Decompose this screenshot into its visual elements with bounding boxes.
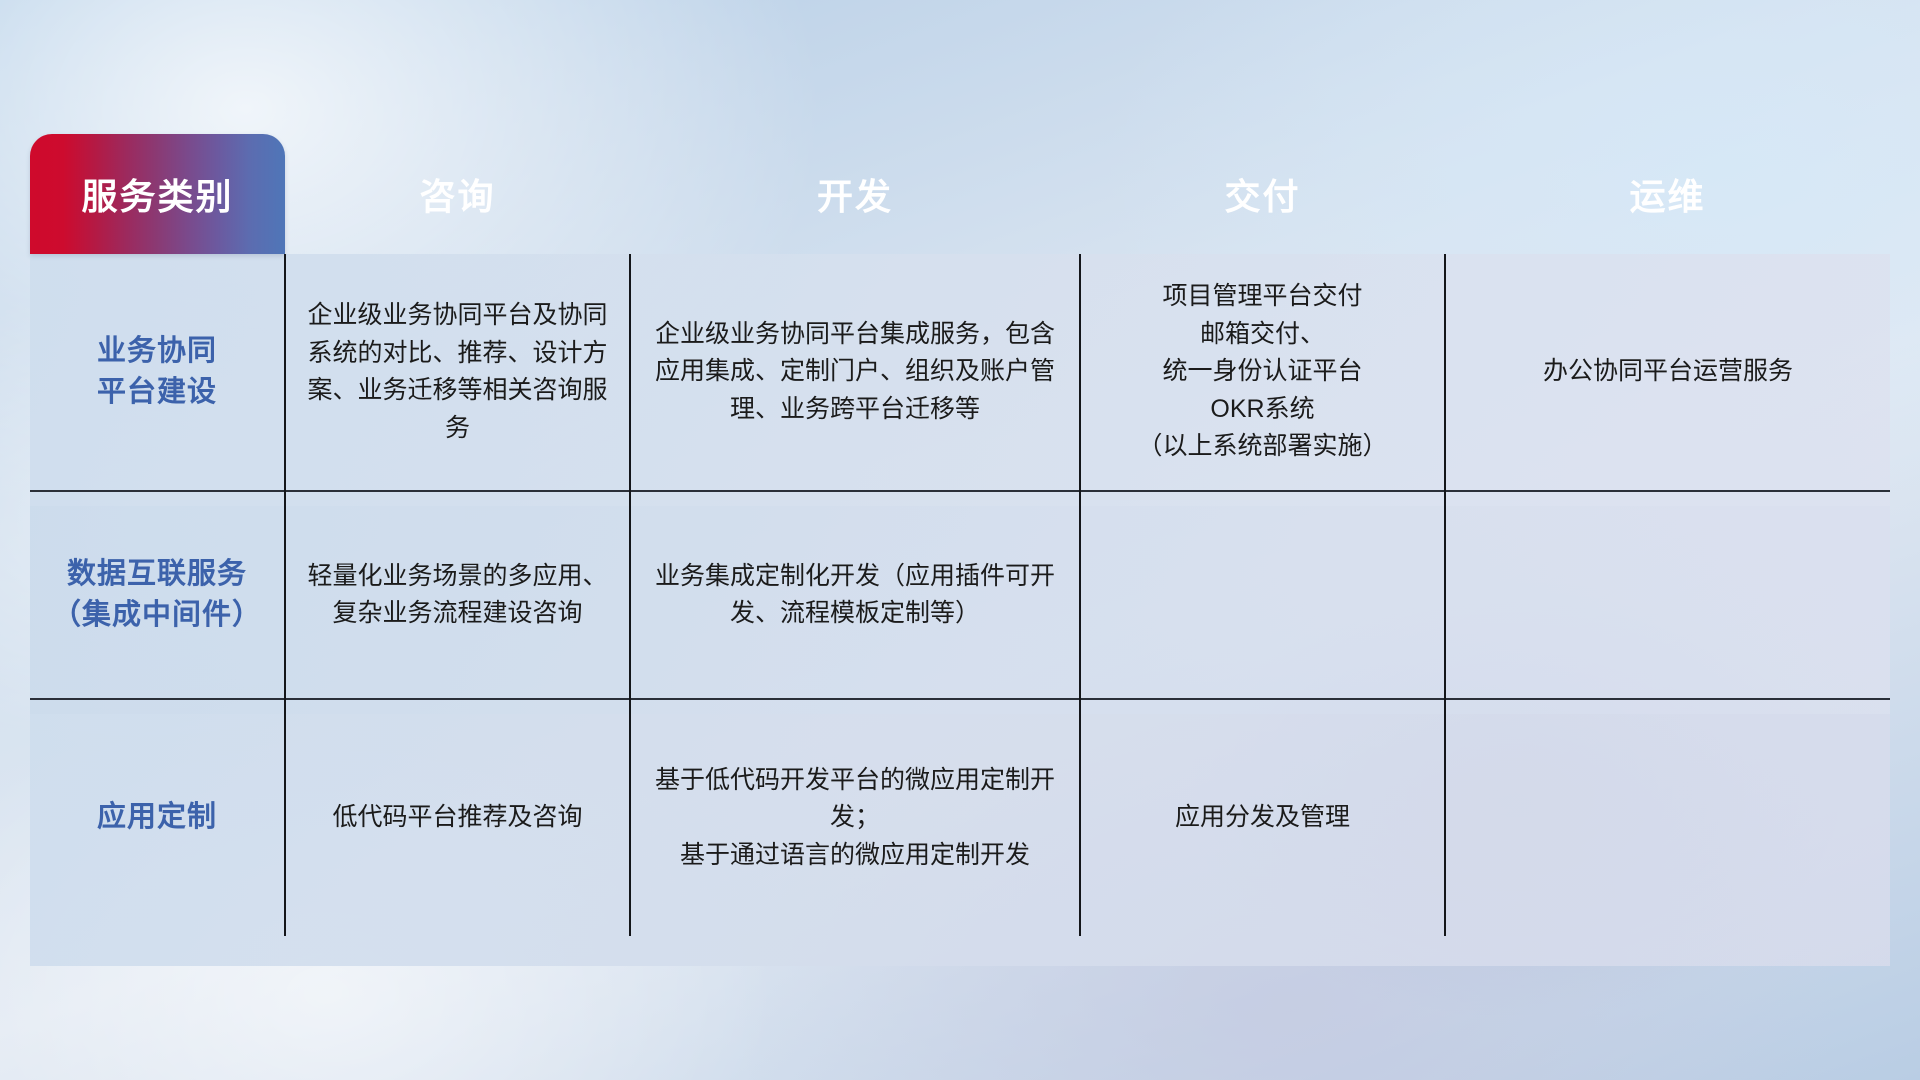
table-row: 数据互联服务 （集成中间件） 轻量化业务场景的多应用、复杂业务流程建设咨询 业务… <box>30 491 1890 699</box>
column-header-category-label: 服务类别 <box>81 176 233 217</box>
cell-consulting-row1: 企业级业务协同平台及协同系统的对比、推荐、设计方案、业务迁移等相关咨询服务 <box>285 254 630 491</box>
table-header-row: 服务类别 咨询 开发 交付 运维 <box>30 134 1890 254</box>
cell-consulting-row2: 轻量化业务场景的多应用、复杂业务流程建设咨询 <box>285 491 630 699</box>
cell-category-row3: 应用定制 <box>30 699 285 936</box>
cell-consulting-row3: 低代码平台推荐及咨询 <box>285 699 630 936</box>
cell-operations-row2 <box>1445 491 1890 699</box>
service-matrix-table: 服务类别 咨询 开发 交付 运维 业务协同 平台建设 企业级 <box>30 134 1890 936</box>
column-header-development[interactable]: 开发 <box>630 134 1080 254</box>
column-header-delivery-label: 交付 <box>1224 176 1300 217</box>
service-matrix-table-wrapper: 服务类别 咨询 开发 交付 运维 业务协同 平台建设 企业级 <box>30 134 1890 936</box>
cell-delivery-row1: 项目管理平台交付 邮箱交付、 统一身份认证平台 OKR系统 （以上系统部署实施） <box>1080 254 1445 491</box>
cell-operations-row3 <box>1445 699 1890 936</box>
column-header-delivery[interactable]: 交付 <box>1080 134 1445 254</box>
table-row: 应用定制 低代码平台推荐及咨询 基于低代码开发平台的微应用定制开发； 基于通过语… <box>30 699 1890 936</box>
cell-category-row1: 业务协同 平台建设 <box>30 254 285 491</box>
cell-development-row3: 基于低代码开发平台的微应用定制开发； 基于通过语言的微应用定制开发 <box>630 699 1080 936</box>
column-header-operations[interactable]: 运维 <box>1445 134 1890 254</box>
cell-development-row1: 企业级业务协同平台集成服务，包含应用集成、定制门户、组织及账户管理、业务跨平台迁… <box>630 254 1080 491</box>
table-row: 业务协同 平台建设 企业级业务协同平台及协同系统的对比、推荐、设计方案、业务迁移… <box>30 254 1890 491</box>
cell-delivery-row2 <box>1080 491 1445 699</box>
cell-delivery-row3: 应用分发及管理 <box>1080 699 1445 936</box>
table-body: 业务协同 平台建设 企业级业务协同平台及协同系统的对比、推荐、设计方案、业务迁移… <box>30 254 1890 936</box>
column-header-consulting-label: 咨询 <box>419 176 495 217</box>
table-header: 服务类别 咨询 开发 交付 运维 <box>30 134 1890 254</box>
column-header-development-label: 开发 <box>817 176 893 217</box>
column-header-operations-label: 运维 <box>1629 176 1705 217</box>
cell-operations-row1: 办公协同平台运营服务 <box>1445 254 1890 491</box>
column-header-consulting[interactable]: 咨询 <box>285 134 630 254</box>
cell-category-row2: 数据互联服务 （集成中间件） <box>30 491 285 699</box>
cell-development-row2: 业务集成定制化开发（应用插件可开发、流程模板定制等） <box>630 491 1080 699</box>
column-header-category[interactable]: 服务类别 <box>30 134 285 254</box>
